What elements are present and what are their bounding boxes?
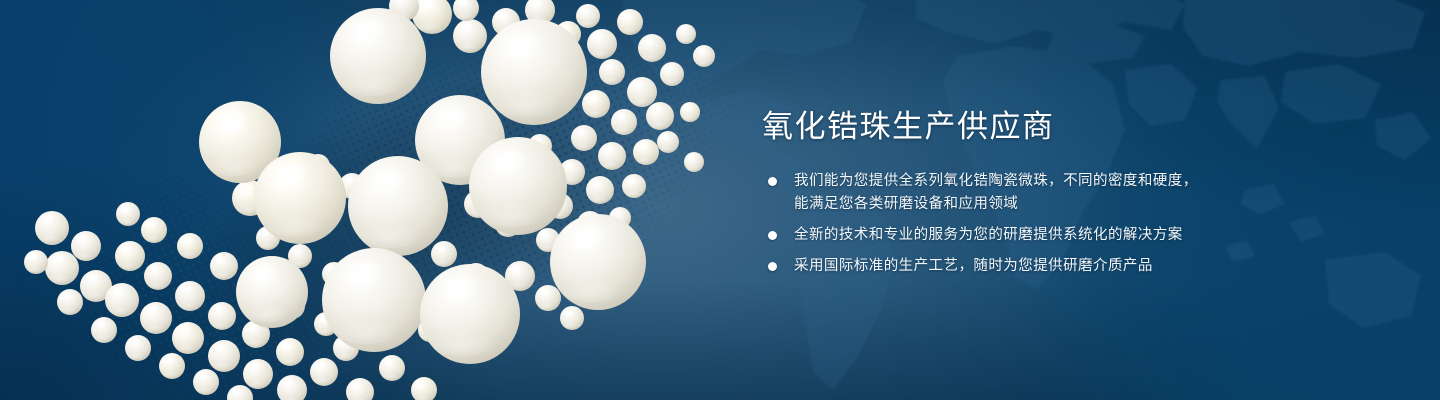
feature-text-line1: 全新的技术和专业的服务为您的研磨提供系统化的解决方案 [794,227,1183,243]
banner-headline: 氧化锆珠生产供应商 [762,108,1055,147]
background-bottom-left-vignette [0,160,480,400]
feature-item: 我们能为您提供全系列氧化锆陶瓷微珠，不同的密度和硬度， 能满足您各类研磨设备和应… [766,170,1198,216]
bullet-dot-icon [768,177,777,186]
hero-banner: 氧化锆珠生产供应商 我们能为您提供全系列氧化锆陶瓷微珠，不同的密度和硬度， 能满… [0,0,1440,400]
bullet-dot-icon [768,262,777,271]
banner-content: 氧化锆珠生产供应商 我们能为您提供全系列氧化锆陶瓷微珠，不同的密度和硬度， 能满… [762,0,1322,400]
bullet-dot-icon [768,231,777,240]
banner-feature-list: 我们能为您提供全系列氧化锆陶瓷微珠，不同的密度和硬度， 能满足您各类研磨设备和应… [766,170,1198,278]
feature-text-line1: 我们能为您提供全系列氧化锆陶瓷微珠，不同的密度和硬度， [794,173,1198,189]
feature-item: 全新的技术和专业的服务为您的研磨提供系统化的解决方案 [766,224,1198,247]
feature-text-line1: 采用国际标准的生产工艺，随时为您提供研磨介质产品 [794,258,1153,274]
feature-item: 采用国际标准的生产工艺，随时为您提供研磨介质产品 [766,255,1198,278]
feature-text-line2: 能满足您各类研磨设备和应用领域 [794,193,1198,216]
